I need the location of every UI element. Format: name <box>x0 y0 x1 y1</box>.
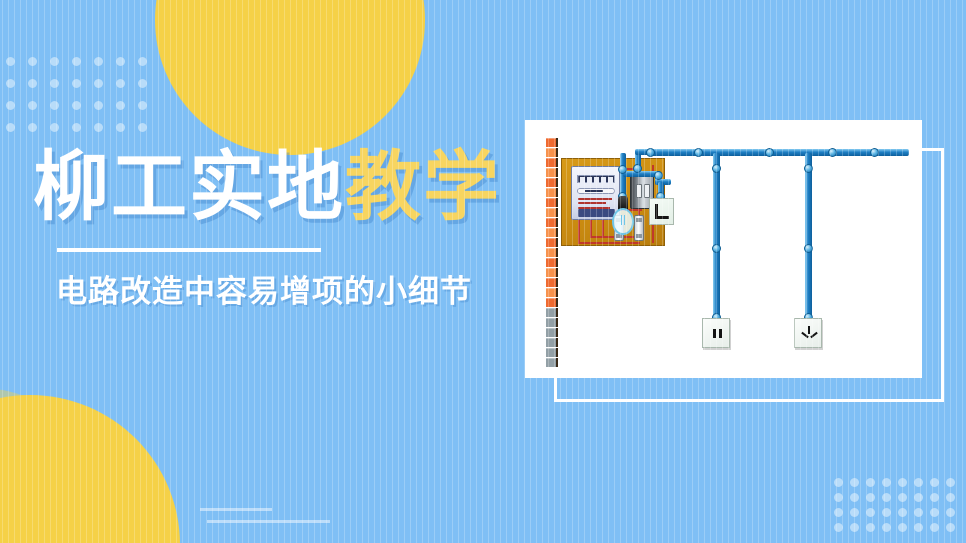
meter-label-line-2 <box>578 202 606 204</box>
accent-line-upper <box>200 508 272 511</box>
pipe-joint-6 <box>870 148 879 157</box>
brick-wall-icon <box>546 138 558 358</box>
pipe-joint-3 <box>694 148 703 157</box>
pipe-joint-4 <box>765 148 774 157</box>
title-highlight-text: 教学 <box>345 145 501 230</box>
wire-red-2 <box>578 242 640 244</box>
meter-terminal-cover <box>578 209 615 217</box>
dot-grid-bottom-right <box>834 478 962 538</box>
pipe-joint-2 <box>646 148 655 157</box>
title-primary-text: 柳工实地 <box>33 145 345 230</box>
illustration-panel: 住宅配电与照明插座安装接线示意图 <box>525 120 922 378</box>
bulb-filament-icon <box>621 215 625 225</box>
meter-display <box>577 175 615 183</box>
three-pin-outlet-icon <box>794 318 822 348</box>
wire-red-1 <box>578 220 580 244</box>
two-pin-outlet-icon <box>702 318 730 348</box>
pipe-joint-12 <box>712 244 721 253</box>
pipe-joint-15 <box>804 244 813 253</box>
electric-meter-icon <box>571 166 620 220</box>
pipe-joint-11 <box>712 164 721 173</box>
title-divider <box>57 248 321 252</box>
dot-grid-top-left <box>6 57 160 145</box>
pipe-joint-7 <box>618 165 627 174</box>
pipe-joint-5 <box>828 148 837 157</box>
meter-label-line-1 <box>578 198 612 200</box>
headline-block: 柳工实地教学 电路改造中容易增项的小细节 <box>0 150 520 311</box>
pipe-joint-8 <box>654 171 663 180</box>
circuit-diagram: 住宅配电与照明插座安装接线示意图 <box>525 120 922 378</box>
pipe-joint-14 <box>804 164 813 173</box>
illustration-caption: 住宅配电与照明插座安装接线示意图 <box>525 120 526 121</box>
poster-canvas: 柳工实地教学 电路改造中容易增项的小细节 <box>0 0 966 543</box>
yellow-circle-top-icon <box>155 0 425 155</box>
accent-line-lower <box>207 520 330 523</box>
page-title: 柳工实地教学 <box>0 150 520 226</box>
meter-dial <box>577 188 615 194</box>
wall-switch-icon <box>649 198 674 225</box>
pipe-drop-outlet-three <box>805 153 812 321</box>
pipe-drop-outlet-two <box>713 153 720 321</box>
fuse-right-icon <box>634 215 644 241</box>
pipe-joint-1 <box>633 164 642 173</box>
page-subtitle: 电路改造中容易增项的小细节 <box>0 266 520 311</box>
